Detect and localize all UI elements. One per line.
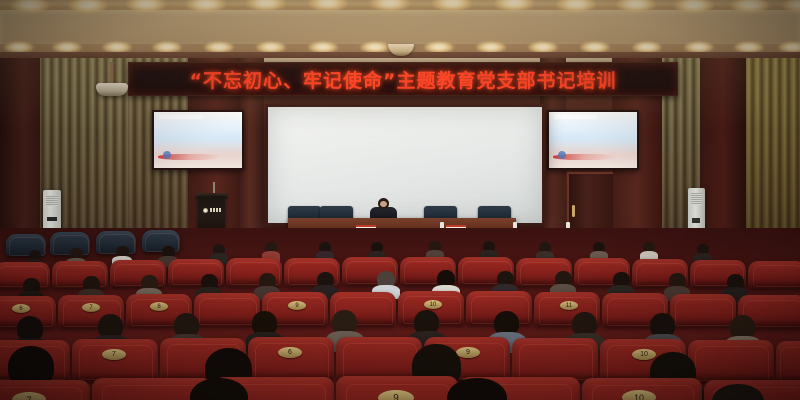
audience-member [176, 378, 262, 400]
right-projection-screen [547, 110, 639, 170]
left-projection-screen [152, 110, 244, 170]
lectern-emblem-icon [203, 207, 221, 213]
seat[interactable]: 10 [582, 378, 702, 400]
conference-hall-photo: “不忘初心、牢记使命”主题教育党支部书记培训 [0, 0, 800, 400]
ac-display-icon [692, 218, 700, 223]
seat-number: 9 [288, 301, 306, 310]
seat[interactable] [748, 261, 800, 288]
ceiling-light-row-top [0, 0, 800, 14]
led-banner: “不忘初心、牢记使命”主题教育党支部书记培训 [128, 62, 678, 96]
ceiling-light [616, 0, 656, 12]
seat-number: 10 [622, 390, 656, 400]
audience-area: 6 7 8 9 10 11 [0, 228, 800, 400]
emblem-mark-icon [203, 208, 208, 213]
ceiling-light [730, 0, 770, 13]
seat[interactable]: 7 [72, 339, 158, 382]
seat-number: 7 [12, 392, 46, 400]
ceiling-light [370, 0, 410, 11]
seat[interactable]: 7 [0, 380, 90, 400]
emblem-wordmark [210, 208, 221, 212]
screen-blue-accent [163, 151, 171, 159]
screen-title-bar [159, 115, 201, 119]
screen-blue-accent [558, 151, 566, 159]
seat-number: 7 [82, 303, 100, 312]
audience-member [640, 242, 658, 260]
ceiling-panel [0, 10, 800, 44]
seat-number: 10 [424, 300, 442, 309]
ceiling-projector [96, 83, 128, 96]
ceiling-light [126, 0, 166, 12]
ceiling-light [782, 0, 800, 13]
seat-number: 8 [150, 302, 168, 311]
ac-vent-icon [46, 196, 58, 206]
ac-vent-icon [691, 193, 702, 205]
door-handle-icon[interactable] [572, 205, 575, 217]
seat[interactable] [512, 338, 598, 382]
seat[interactable] [776, 341, 800, 383]
audience-member [432, 378, 522, 400]
ceiling-light [68, 0, 108, 13]
screen-title-bar [554, 115, 596, 119]
ceiling-light [674, 0, 714, 13]
ac-display-icon [47, 217, 57, 221]
right-screen-surface [549, 112, 637, 168]
seat-number: 9 [378, 390, 414, 400]
seat-number: 7 [102, 349, 126, 360]
ceiling-light [10, 0, 50, 13]
ceiling-light [494, 0, 534, 11]
seat-number: 6 [12, 304, 30, 313]
ceiling-light [186, 0, 226, 12]
projector-mount [110, 62, 113, 84]
seated-speaker-face [380, 201, 387, 207]
ceiling [0, 0, 800, 62]
left-screen-surface [154, 112, 242, 168]
ceiling-light [432, 0, 472, 11]
ceiling-light [308, 0, 348, 11]
ceiling-light [556, 0, 596, 12]
seat-number: 6 [278, 347, 302, 358]
seat-number: 11 [560, 301, 578, 310]
audience-member [700, 384, 776, 400]
led-banner-text: “不忘初心、牢记使命”主题教育党支部书记培训 [190, 66, 617, 93]
ceiling-light [246, 0, 286, 11]
